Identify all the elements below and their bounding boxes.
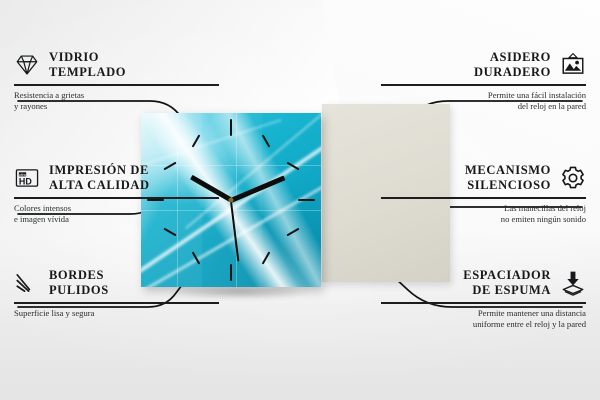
feature-divider	[381, 197, 586, 199]
feature-description: Resistencia a grietas	[14, 90, 219, 101]
feature-title: BORDES PULIDOS	[49, 268, 109, 297]
feature-espaciador-de-espuma: ESPACIADOR DE ESPUMA Permite mantener un…	[381, 268, 586, 330]
feature-description: Permite mantener una distancia	[381, 308, 586, 319]
diamond-icon	[14, 52, 40, 78]
feature-mecanismo-silencioso: MECANISMO SILENCIOSO Las manecillas del …	[381, 163, 586, 225]
feature-description: Las manecillas del reloj	[381, 203, 586, 214]
clock-tick-3	[298, 199, 315, 201]
feature-title: MECANISMO SILENCIOSO	[465, 163, 551, 192]
feature-description: e imagen vívida	[14, 214, 219, 225]
feature-divider	[14, 84, 219, 86]
gear-icon	[560, 165, 586, 191]
clock-tick-12	[230, 119, 232, 136]
feature-header: VIDRIO TEMPLADO	[14, 50, 219, 79]
feature-description: Superficie lisa y segura	[14, 308, 219, 319]
feature-title: ASIDERO DURADERO	[474, 50, 551, 79]
feature-title: VIDRIO TEMPLADO	[49, 50, 126, 79]
feature-divider	[14, 302, 219, 304]
feature-header: BORDES PULIDOS	[14, 268, 219, 297]
feature-header: ASIDERO DURADERO	[381, 50, 586, 79]
feature-asidero-duradero: ASIDERO DURADERO Permite una fácil insta…	[381, 50, 586, 112]
feature-description: Colores intensos	[14, 203, 219, 214]
feature-description: y rayones	[14, 101, 219, 112]
feature-header: ultra HD IMPRESIÓN DE ALTA CALIDAD	[14, 163, 219, 192]
feature-divider	[14, 197, 219, 199]
arrow-down-pad-icon	[560, 270, 586, 296]
feature-title: ESPACIADOR DE ESPUMA	[463, 268, 551, 297]
clock-center-hub	[229, 198, 234, 203]
feature-description: no emiten ningún sonido	[381, 214, 586, 225]
ultra-hd-icon: ultra HD	[14, 165, 40, 191]
feature-title: IMPRESIÓN DE ALTA CALIDAD	[49, 163, 150, 192]
feature-description: uniforme entre el reloj y la pared	[381, 319, 586, 330]
feature-description: del reloj en la pared	[381, 101, 586, 112]
feature-divider	[381, 84, 586, 86]
clock-tick-6	[230, 264, 232, 281]
infographic-stage: VIDRIO TEMPLADO Resistencia a grietas y …	[0, 0, 600, 400]
feature-impresion-alta-calidad: ultra HD IMPRESIÓN DE ALTA CALIDAD Color…	[14, 163, 219, 225]
feature-divider	[381, 302, 586, 304]
framed-picture-icon	[560, 52, 586, 78]
diagonal-lines-icon	[14, 270, 40, 296]
feature-header: ESPACIADOR DE ESPUMA	[381, 268, 586, 297]
feature-description: Permite una fácil instalación	[381, 90, 586, 101]
feature-header: MECANISMO SILENCIOSO	[381, 163, 586, 192]
svg-text:HD: HD	[19, 176, 32, 186]
feature-vidrio-templado: VIDRIO TEMPLADO Resistencia a grietas y …	[14, 50, 219, 112]
feature-bordes-pulidos: BORDES PULIDOS Superficie lisa y segura	[14, 268, 219, 319]
